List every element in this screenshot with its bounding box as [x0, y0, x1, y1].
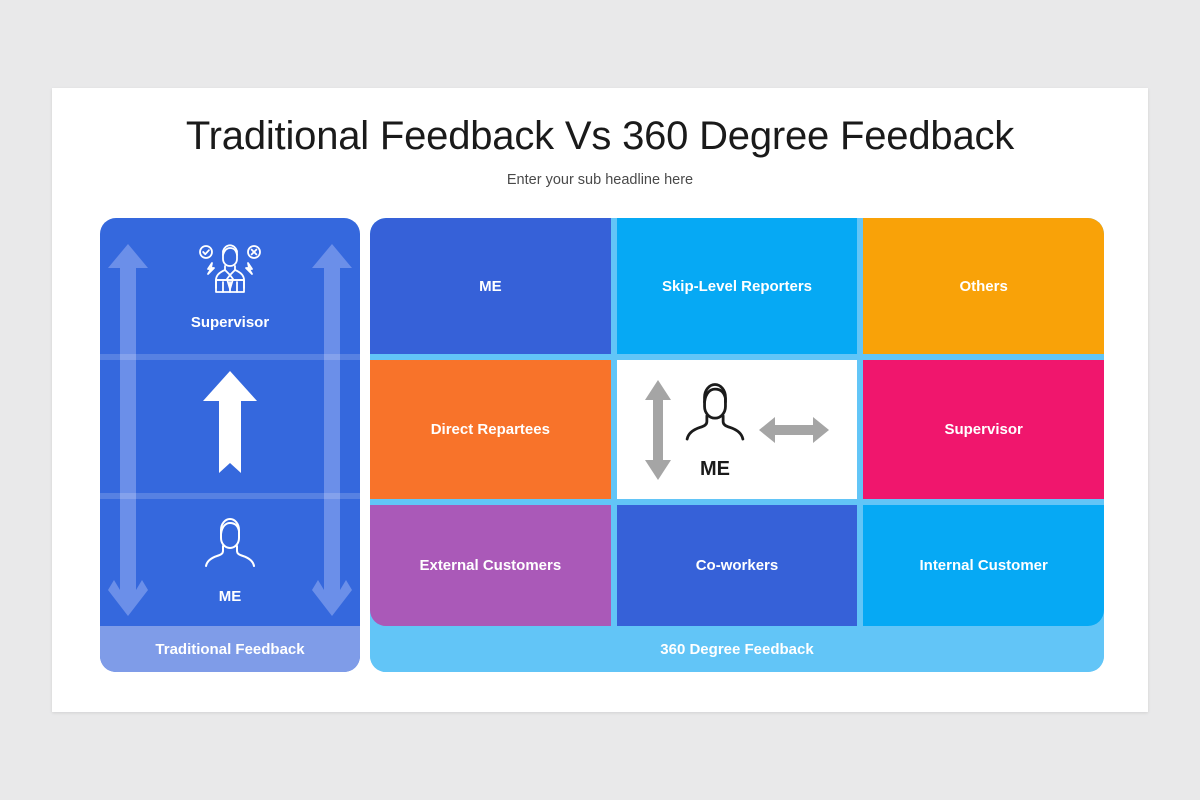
tile-label: Others — [959, 278, 1007, 295]
tile-label: ME — [479, 278, 502, 295]
tile-direct-repartees[interactable]: Direct Repartees — [370, 360, 611, 499]
traditional-label-supervisor: Supervisor — [191, 314, 269, 331]
tile-others[interactable]: Others — [863, 218, 1104, 354]
tile-co-workers[interactable]: Co-workers — [617, 505, 858, 626]
up-arrow-icon — [201, 369, 259, 479]
traditional-label-me: ME — [219, 588, 242, 605]
tile-label: Supervisor — [944, 421, 1022, 438]
person-icon — [679, 378, 751, 456]
center-person-group: ME — [679, 378, 751, 481]
360-footer-label: 360 Degree Feedback — [370, 626, 1104, 672]
center-me-label: ME — [700, 458, 730, 481]
traditional-feedback-panel[interactable]: Supervisor — [100, 218, 360, 672]
traditional-rows: Supervisor — [100, 218, 360, 626]
tile-label: Co-workers — [696, 557, 779, 574]
page-subtitle: Enter your sub headline here — [52, 172, 1148, 188]
tile-label: External Customers — [419, 557, 561, 574]
divider-row-2 — [100, 493, 360, 499]
traditional-cell-me[interactable]: ME — [100, 493, 360, 626]
traditional-cell-supervisor[interactable]: Supervisor — [100, 218, 360, 354]
divider-row-1 — [100, 354, 360, 360]
traditional-cell-arrow[interactable] — [100, 354, 360, 493]
comparison-diagram: Supervisor — [100, 218, 1104, 672]
double-arrow-vertical-icon — [643, 378, 673, 482]
slide-header: Traditional Feedback Vs 360 Degree Feedb… — [52, 88, 1148, 188]
360-feedback-panel[interactable]: ME Skip-Level Reporters Others Direct Re… — [370, 218, 1104, 672]
tile-external-customers[interactable]: External Customers — [370, 505, 611, 626]
supervisor-review-icon — [190, 242, 270, 306]
tile-me-top[interactable]: ME — [370, 218, 611, 354]
page-title: Traditional Feedback Vs 360 Degree Feedb… — [52, 114, 1148, 158]
slide-card: Traditional Feedback Vs 360 Degree Feedb… — [52, 88, 1148, 712]
tile-label: Skip-Level Reporters — [662, 278, 812, 295]
tile-supervisor[interactable]: Supervisor — [863, 360, 1104, 499]
tile-label: Internal Customer — [919, 557, 1047, 574]
360-tile-grid: ME Skip-Level Reporters Others Direct Re… — [370, 218, 1104, 626]
person-icon — [199, 514, 261, 580]
tile-label: Direct Repartees — [431, 421, 550, 438]
tile-skip-level-reporters[interactable]: Skip-Level Reporters — [617, 218, 858, 354]
traditional-footer-label: Traditional Feedback — [100, 626, 360, 672]
tile-center-me[interactable]: ME — [617, 360, 858, 499]
double-arrow-horizontal-icon — [757, 413, 831, 447]
tile-internal-customer[interactable]: Internal Customer — [863, 505, 1104, 626]
